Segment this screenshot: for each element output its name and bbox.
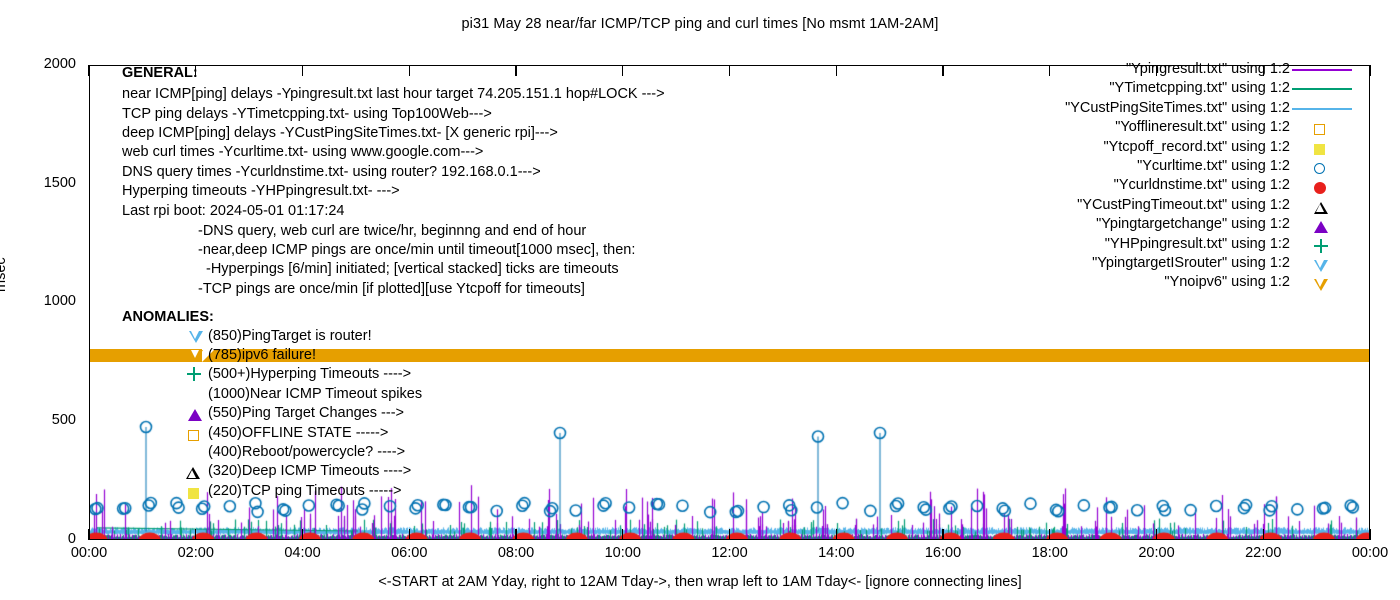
x-tick-10 xyxy=(1156,529,1157,540)
general-note-2: -near,deep ICMP pings are once/min until… xyxy=(198,243,635,258)
general-note-4: -TCP pings are once/min [if plotted][use… xyxy=(198,282,585,297)
x-tick-label-3: 06:00 xyxy=(369,545,449,561)
legend-label: "Ytcpoff_record.txt" using 1:2 xyxy=(1103,138,1290,157)
y-tick-label-2000: 2000 xyxy=(0,56,76,72)
general-line-4: web curl times -Ycurltime.txt- using www… xyxy=(122,145,483,160)
anomaly-item-tcp-ping-timeouts: (220)TCP ping Timeouts -----> xyxy=(208,483,402,499)
x-tick-9 xyxy=(1049,529,1050,540)
legend-label: "Ypingresult.txt" using 1:2 xyxy=(1126,60,1290,79)
triangle-down-orange-icon xyxy=(189,348,203,364)
legend-label: "YpingtargetISrouter" using 1:2 xyxy=(1092,254,1290,273)
anomaly-label: (500+)Hyperping Timeouts ----> xyxy=(208,366,411,382)
general-heading: GENERAL: xyxy=(122,66,198,81)
anomaly-item-offline-state: (450)OFFLINE STATE -----> xyxy=(208,425,388,441)
plus-icon xyxy=(187,366,201,382)
x-tick-0 xyxy=(88,529,89,540)
x-tick-top-3 xyxy=(409,65,410,76)
triangle-up-filled-icon xyxy=(188,407,202,423)
x-tick-top-2 xyxy=(302,65,303,76)
x-tick-label-4: 08:00 xyxy=(476,545,556,561)
anomaly-label: (550)Ping Target Changes ---> xyxy=(208,405,404,421)
anomalies-heading: ANOMALIES: xyxy=(122,310,214,325)
legend-entry-10[interactable]: "YpingtargetISrouter" using 1:2 xyxy=(870,254,1290,273)
legend-entry-5[interactable]: "Ycurltime.txt" using 1:2 xyxy=(870,157,1290,176)
anomaly-item-ping-target-changes: (550)Ping Target Changes ---> xyxy=(208,405,404,421)
y-tick-label-1000: 1000 xyxy=(0,293,76,309)
general-note-1: -DNS query, web curl are twice/hr, begin… xyxy=(198,224,586,239)
legend-label: "Yofflineresult.txt" using 1:2 xyxy=(1115,118,1290,137)
x-tick-label-6: 12:00 xyxy=(690,545,770,561)
x-tick-top-5 xyxy=(622,65,623,76)
legend-key-triangle-down-blue-icon xyxy=(1290,254,1354,273)
x-tick-8 xyxy=(942,529,943,540)
x-tick-7 xyxy=(836,529,837,540)
x-tick-top-12 xyxy=(1369,65,1370,76)
legend-key-triangle-up-open-icon xyxy=(1290,196,1354,215)
y-axis-title: msec xyxy=(0,257,9,292)
x-tick-2 xyxy=(302,529,303,540)
anomaly-label: (400)Reboot/powercycle? ----> xyxy=(208,444,405,460)
legend-label: "Ynoipv6" using 1:2 xyxy=(1164,273,1290,292)
y-tick-label-1500: 1500 xyxy=(0,175,76,191)
legend-label: "YTimetcpping.txt" using 1:2 xyxy=(1109,79,1290,98)
x-tick-top-6 xyxy=(729,65,730,76)
anomaly-label: (850)PingTarget is router! xyxy=(208,328,372,344)
legend-key-circle-open-icon xyxy=(1290,157,1354,176)
legend-entry-7[interactable]: "YCustPingTimeout.txt" using 1:2 xyxy=(870,196,1290,215)
triangle-up-open-icon xyxy=(186,465,200,481)
anomaly-label: (320)Deep ICMP Timeouts ----> xyxy=(208,463,411,479)
x-tick-11 xyxy=(1263,529,1264,540)
legend-label: "YCustPingTimeout.txt" using 1:2 xyxy=(1077,196,1290,215)
legend-key-triangle-up-filled-icon xyxy=(1290,215,1354,234)
general-line-2: TCP ping delays -YTimetcpping.txt- using… xyxy=(122,107,492,122)
legend-label: "Ycurltime.txt" using 1:2 xyxy=(1137,157,1290,176)
x-tick-label-9: 18:00 xyxy=(1010,545,1090,561)
x-tick-label-7: 14:00 xyxy=(796,545,876,561)
legend-key-line xyxy=(1290,79,1354,98)
x-tick-12 xyxy=(1369,529,1370,540)
anomaly-item-pingtarget-router: (850)PingTarget is router! xyxy=(208,328,372,344)
general-note-3: -Hyperpings [6/min] initiated; [vertical… xyxy=(206,262,619,277)
legend-label: "YHPpingresult.txt" using 1:2 xyxy=(1105,235,1290,254)
legend-key-line xyxy=(1290,99,1354,118)
x-tick-top-4 xyxy=(515,65,516,76)
square-open-icon xyxy=(188,427,199,443)
square-filled-icon xyxy=(188,485,199,501)
x-tick-4 xyxy=(515,529,516,540)
x-tick-1 xyxy=(195,529,196,540)
legend-label: "YCustPingSiteTimes.txt" using 1:2 xyxy=(1065,99,1290,118)
legend-label: "Ypingtargetchange" using 1:2 xyxy=(1096,215,1290,234)
x-tick-5 xyxy=(622,529,623,540)
legend-key-square-open-icon xyxy=(1290,118,1354,137)
x-axis-caption: <-START at 2AM Yday, right to 12AM Tday-… xyxy=(0,574,1400,590)
legend-entry-9[interactable]: "YHPpingresult.txt" using 1:2 xyxy=(870,235,1290,254)
x-tick-label-10: 20:00 xyxy=(1117,545,1197,561)
x-tick-top-0 xyxy=(88,65,89,76)
x-tick-label-12: 00:00 xyxy=(1330,545,1400,561)
legend-entry-1[interactable]: "YTimetcpping.txt" using 1:2 xyxy=(870,79,1290,98)
legend-key-circle-filled-icon xyxy=(1290,176,1354,195)
chart-legend: "Ypingresult.txt" using 1:2"YTimetcpping… xyxy=(870,60,1290,293)
legend-entry-11[interactable]: "Ynoipv6" using 1:2 xyxy=(870,273,1290,292)
anomaly-item-reboot: (400)Reboot/powercycle? ----> xyxy=(208,444,405,460)
legend-label: "Ycurldnstime.txt" using 1:2 xyxy=(1114,176,1290,195)
legend-key-line xyxy=(1290,60,1354,79)
legend-entry-3[interactable]: "Yofflineresult.txt" using 1:2 xyxy=(870,118,1290,137)
general-line-3: deep ICMP[ping] delays -YCustPingSiteTim… xyxy=(122,126,558,141)
legend-key-square-filled-icon xyxy=(1290,138,1354,157)
general-line-1: near ICMP[ping] delays -Ypingresult.txt … xyxy=(122,87,665,102)
x-tick-6 xyxy=(729,529,730,540)
legend-entry-8[interactable]: "Ypingtargetchange" using 1:2 xyxy=(870,215,1290,234)
x-tick-label-8: 16:00 xyxy=(903,545,983,561)
legend-entry-6[interactable]: "Ycurldnstime.txt" using 1:2 xyxy=(870,176,1290,195)
legend-entry-2[interactable]: "YCustPingSiteTimes.txt" using 1:2 xyxy=(870,99,1290,118)
x-tick-top-7 xyxy=(836,65,837,76)
x-tick-label-5: 10:00 xyxy=(583,545,663,561)
triangle-down-blue-icon xyxy=(189,329,203,345)
x-tick-label-2: 04:00 xyxy=(263,545,343,561)
legend-key-triangle-down-orange-icon xyxy=(1290,273,1354,292)
y-tick-label-500: 500 xyxy=(0,412,76,428)
anomaly-item-near-icmp-spikes: (1000)Near ICMP Timeout spikes xyxy=(208,386,422,402)
x-tick-3 xyxy=(409,529,410,540)
general-line-5: DNS query times -Ycurldnstime.txt- using… xyxy=(122,165,541,180)
x-tick-label-0: 00:00 xyxy=(49,545,129,561)
anomaly-item-ipv6-failure: (785)ipv6 failure! xyxy=(208,347,316,363)
legend-entry-0[interactable]: "Ypingresult.txt" using 1:2 xyxy=(870,60,1290,79)
x-tick-label-1: 02:00 xyxy=(156,545,236,561)
general-line-7: Last rpi boot: 2024-05-01 01:17:24 xyxy=(122,204,345,219)
legend-entry-4[interactable]: "Ytcpoff_record.txt" using 1:2 xyxy=(870,138,1290,157)
legend-key-plus-icon xyxy=(1290,235,1354,254)
x-tick-label-11: 22:00 xyxy=(1223,545,1303,561)
anomaly-label: (1000)Near ICMP Timeout spikes xyxy=(208,386,422,402)
chart-title: pi31 May 28 near/far ICMP/TCP ping and c… xyxy=(0,16,1400,32)
anomaly-label: (450)OFFLINE STATE -----> xyxy=(208,425,388,441)
anomaly-item-hyperping-timeouts: (500+)Hyperping Timeouts ----> xyxy=(208,366,411,382)
anomaly-label: (220)TCP ping Timeouts -----> xyxy=(208,483,402,499)
anomaly-item-deep-icmp-timeouts: (320)Deep ICMP Timeouts ----> xyxy=(208,463,411,479)
general-line-6: Hyperping timeouts -YHPpingresult.txt- -… xyxy=(122,184,400,199)
anomaly-label: (785)ipv6 failure! xyxy=(208,347,316,363)
